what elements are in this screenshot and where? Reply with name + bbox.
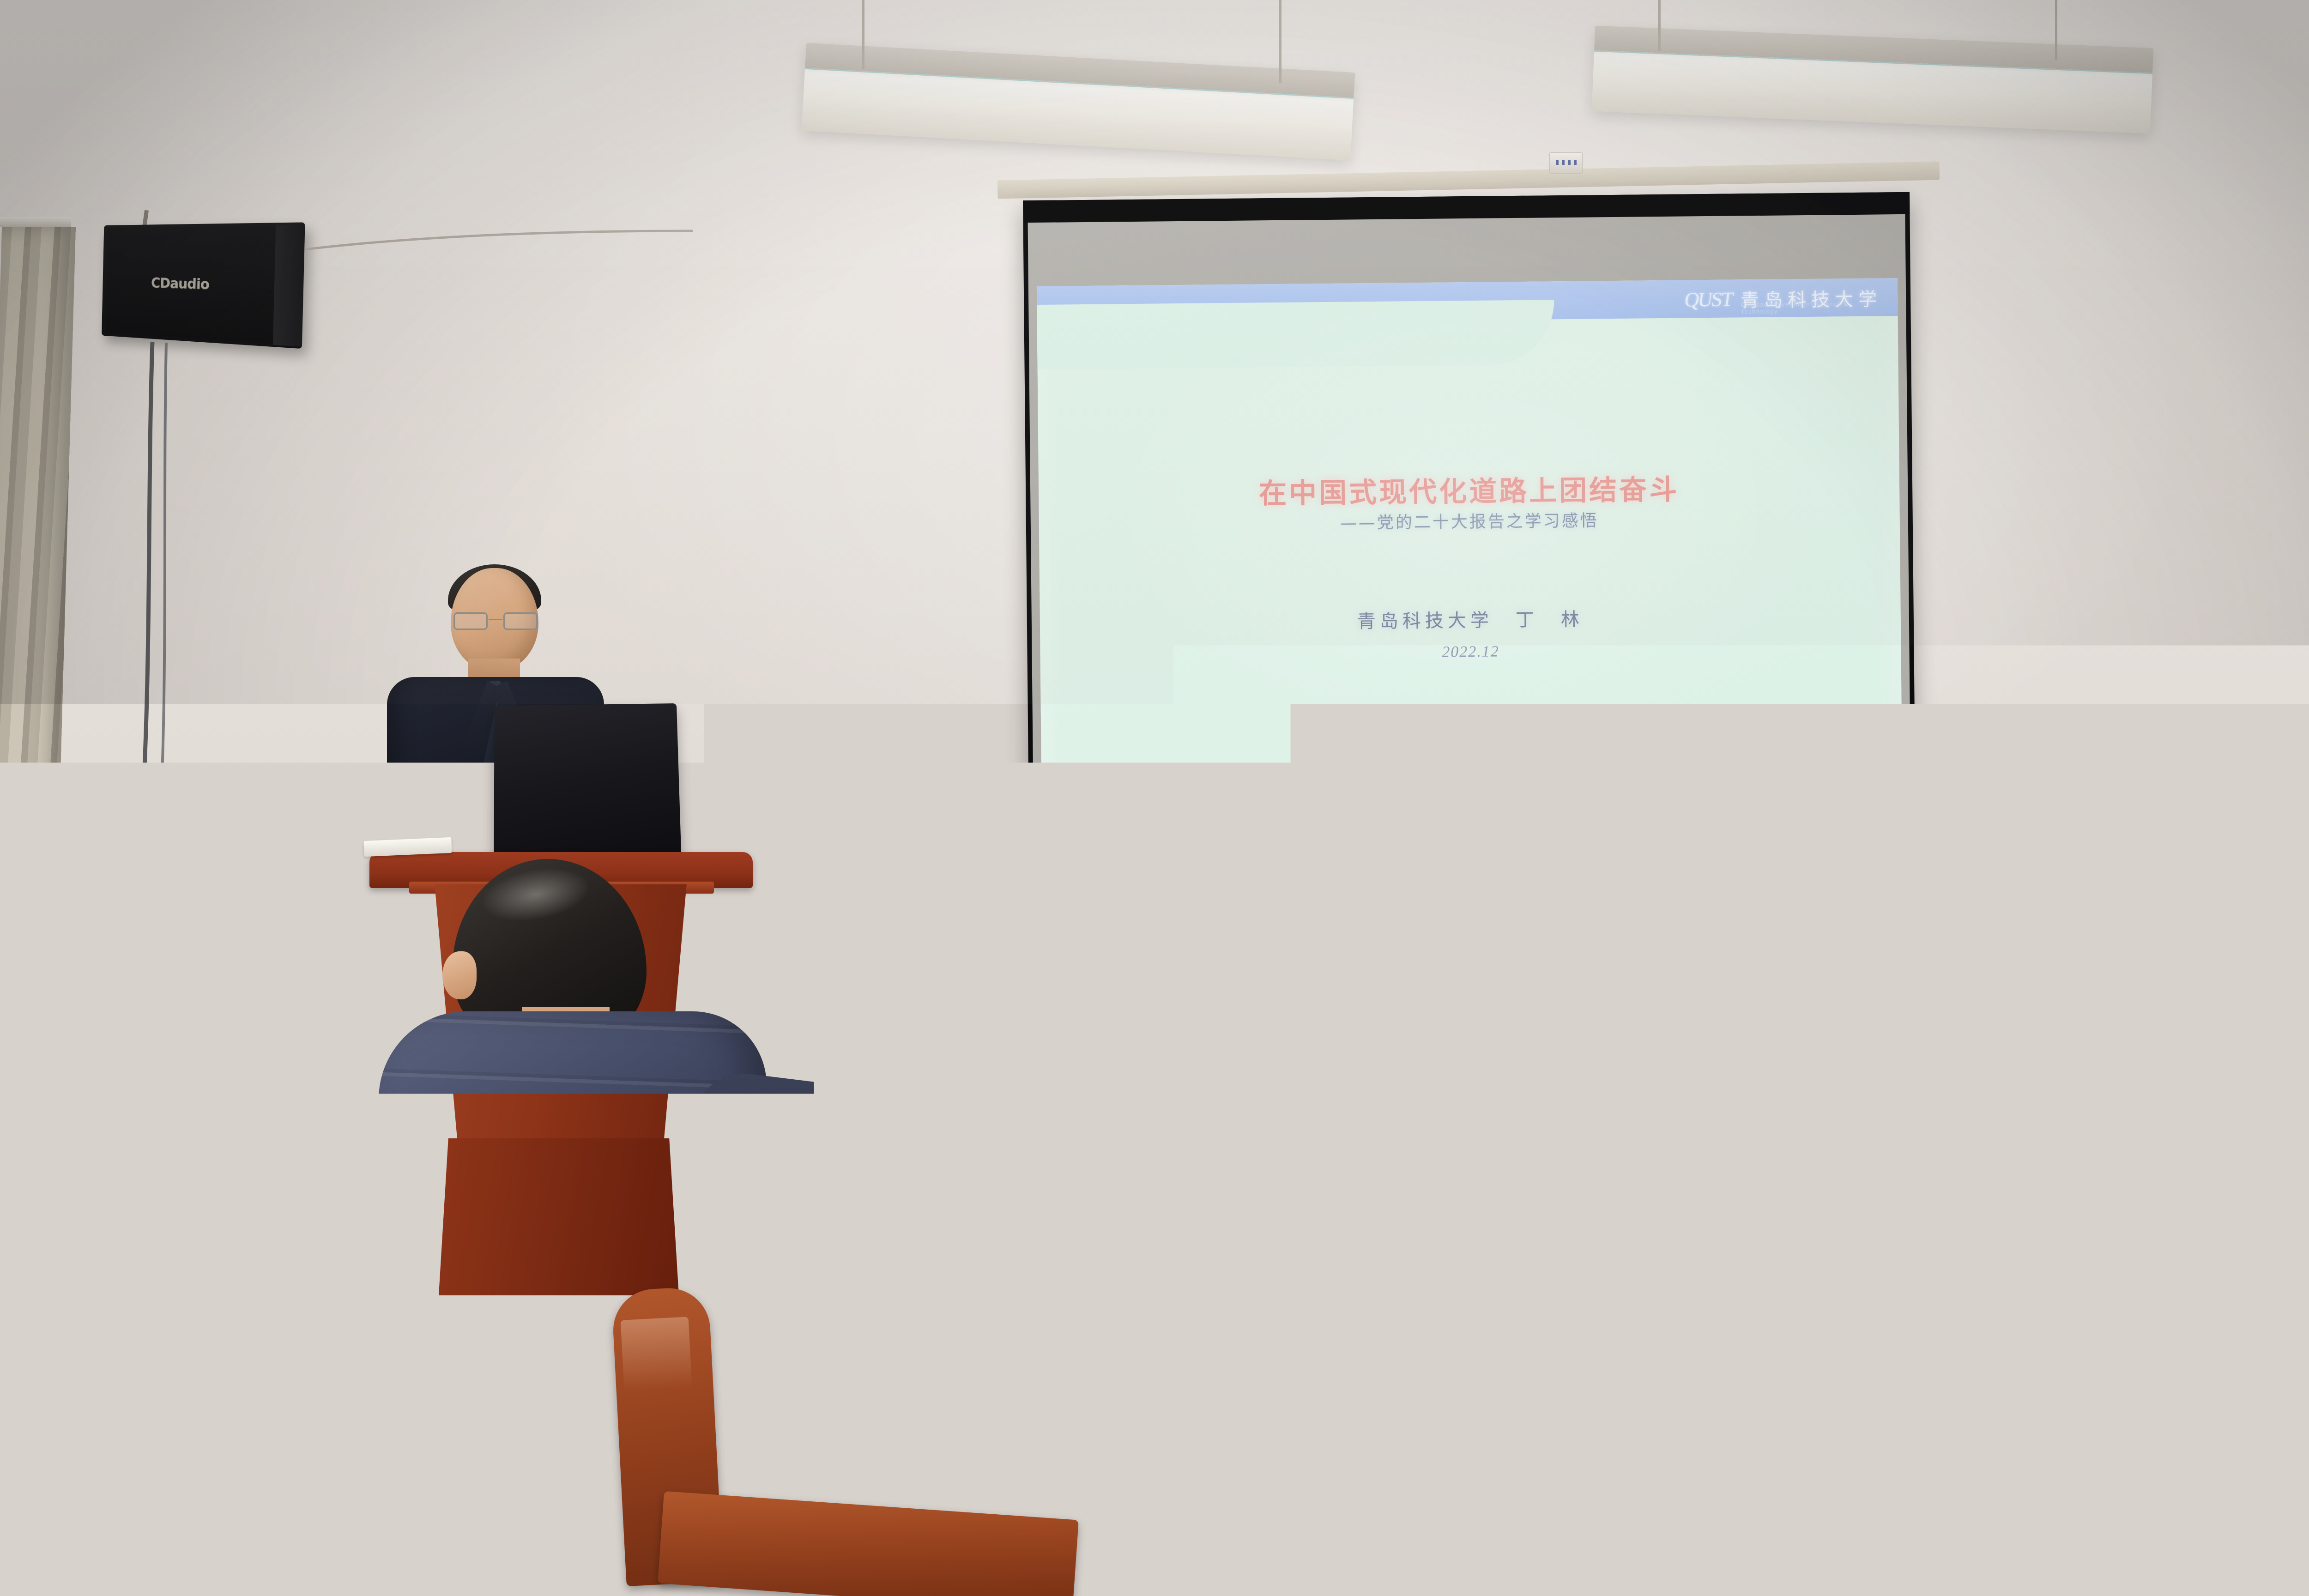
presentation-slide: QUST 青岛科技大学 Qingdao University of Scienc… <box>1037 278 1902 793</box>
audience-member-foreground-left <box>0 988 582 1596</box>
power-outlet[interactable] <box>1750 994 1788 1030</box>
qust-logo-mark: QUST <box>1683 287 1734 311</box>
speaker-side-panel <box>273 224 305 347</box>
lecture-hall-photo: CDaudio QUST 青岛科技大学 Qingdao Univer <box>0 0 2309 1596</box>
presenter-glasses <box>453 612 538 631</box>
university-english-name: Qingdao University of Science & Technolo… <box>1741 300 1880 315</box>
glasses-bridge <box>489 619 502 620</box>
seat-wood-shine <box>2215 1355 2309 1427</box>
screen-control-indicator <box>1556 160 1577 165</box>
speaker-brand-label: CDaudio <box>151 275 210 293</box>
wall-mounted-speaker: CDaudio <box>102 222 305 349</box>
light-suspension-cord <box>1279 0 1281 83</box>
outlet-sockets <box>1758 1001 1780 1023</box>
seat-wood-shine <box>621 1317 692 1391</box>
glasses-lens-right <box>503 612 538 630</box>
outlet-hole <box>1771 1001 1776 1004</box>
audience-ear <box>2014 904 2044 947</box>
slide-author: 青岛科技大学 丁 林 <box>1040 601 1901 636</box>
white-equipment-box <box>0 925 74 962</box>
outlet-hole <box>1759 1001 1764 1004</box>
curtain-rod <box>0 217 71 227</box>
university-logo: QUST 青岛科技大学 Qingdao University of Scienc… <box>1685 282 1882 315</box>
light-suspension-cord <box>2055 0 2057 60</box>
light-suspension-cord <box>1658 0 1661 51</box>
slide-footer-band <box>1041 771 1902 793</box>
presenter-laptop[interactable] <box>494 703 681 858</box>
outlet-hole <box>1760 1013 1765 1018</box>
printer-power-led <box>92 872 98 876</box>
slide-date: 2022.12 <box>1040 639 1901 665</box>
audience-arm <box>1893 1130 2124 1345</box>
glasses-lens-left <box>453 612 488 630</box>
slide-header-curve <box>1037 300 1555 369</box>
light-suspension-cord <box>862 0 864 69</box>
screen-control-box[interactable] <box>1549 152 1583 174</box>
curtain-hem <box>0 813 67 831</box>
outlet-hole <box>1770 1013 1775 1018</box>
projection-screen: QUST 青岛科技大学 Qingdao University of Scienc… <box>1023 192 1916 868</box>
screen-surface: QUST 青岛科技大学 Qingdao University of Scienc… <box>1028 214 1911 863</box>
outlet-hole <box>1766 1008 1769 1013</box>
